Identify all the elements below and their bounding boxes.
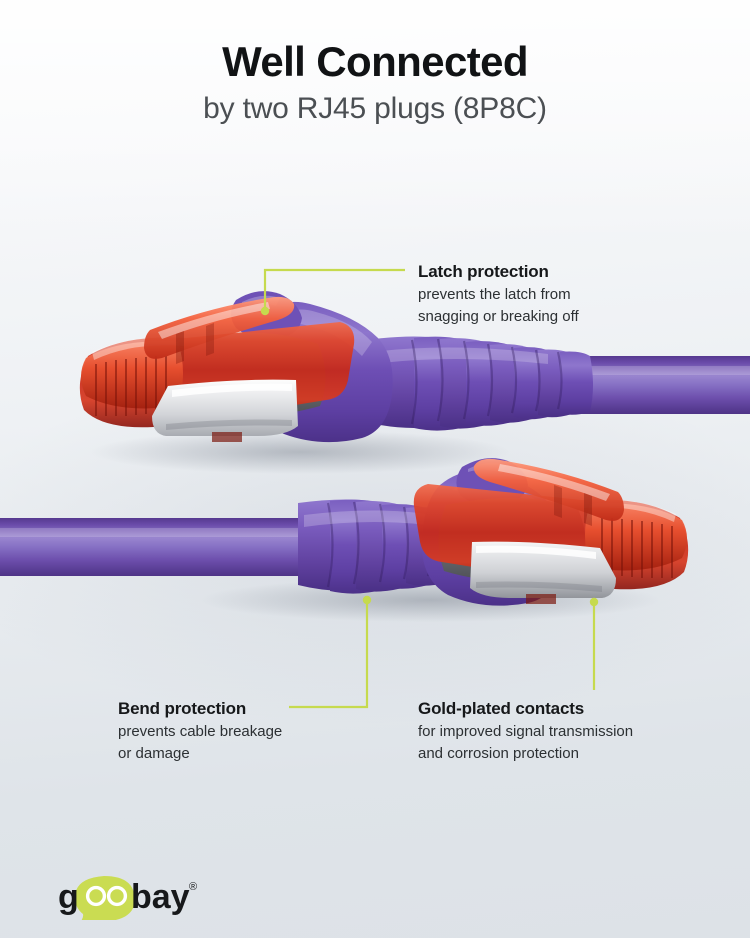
upper-latch-tab xyxy=(144,297,294,364)
lower-latch-knob xyxy=(456,458,528,506)
goobay-text-bay: bay xyxy=(131,878,190,916)
callout-latch-title: Latch protection xyxy=(418,261,579,282)
upper-plug-shadow xyxy=(90,430,510,474)
leader-dot-gold xyxy=(590,598,598,606)
leader-dot-bend xyxy=(363,596,371,604)
goobay-text-g: g xyxy=(58,878,79,916)
upper-plug-body xyxy=(80,322,354,427)
upper-cable-assembly xyxy=(80,291,750,442)
infographic-canvas: Well Connected by two RJ45 plugs (8P8C) xyxy=(0,0,750,938)
header: Well Connected by two RJ45 plugs (8P8C) xyxy=(0,38,750,127)
lower-latch-tab xyxy=(474,459,624,526)
callout-leader-lines xyxy=(0,0,750,938)
upper-strain-relief-boot xyxy=(366,336,593,430)
leader-dot-latch xyxy=(261,307,269,315)
goobay-logo: g bay ® xyxy=(48,872,218,920)
upper-cable-jacket xyxy=(398,356,750,414)
callout-bend-protection: Bend protection prevents cable breakage … xyxy=(118,698,282,764)
product-illustration xyxy=(0,0,750,938)
callout-latch-body: prevents the latch from snagging or brea… xyxy=(418,284,579,327)
page-subtitle: by two RJ45 plugs (8P8C) xyxy=(0,91,750,127)
callout-gold-title: Gold-plated contacts xyxy=(418,698,633,719)
leader-bend xyxy=(289,600,367,707)
callout-bend-body: prevents cable breakage or damage xyxy=(118,721,282,764)
lower-plug-cavity xyxy=(438,498,585,581)
lower-strain-relief-boot xyxy=(298,499,452,593)
upper-boot-collar xyxy=(250,302,393,442)
lower-plug-shadow xyxy=(200,578,660,622)
background-floor-shading xyxy=(0,356,750,731)
callout-gold-plated-contacts: Gold-plated contacts for improved signal… xyxy=(418,698,633,764)
lower-cable-assembly xyxy=(0,458,688,606)
upper-latch-knob xyxy=(231,291,302,339)
upper-metal-shield xyxy=(152,380,298,442)
lower-cable-jacket xyxy=(0,518,356,576)
callout-latch-protection: Latch protection prevents the latch from… xyxy=(418,261,579,327)
callout-gold-body: for improved signal transmission and cor… xyxy=(418,721,633,764)
leader-latch xyxy=(265,270,405,311)
goobay-registered-mark: ® xyxy=(189,881,197,893)
lower-boot-collar xyxy=(422,471,564,606)
lower-metal-shield xyxy=(470,542,616,604)
page-title: Well Connected xyxy=(0,38,750,85)
upper-plug-cavity xyxy=(178,333,325,416)
lower-gold-contacts xyxy=(602,518,672,578)
lower-plug-body xyxy=(414,484,688,589)
upper-gold-contacts xyxy=(96,356,166,416)
callout-bend-title: Bend protection xyxy=(118,698,282,719)
